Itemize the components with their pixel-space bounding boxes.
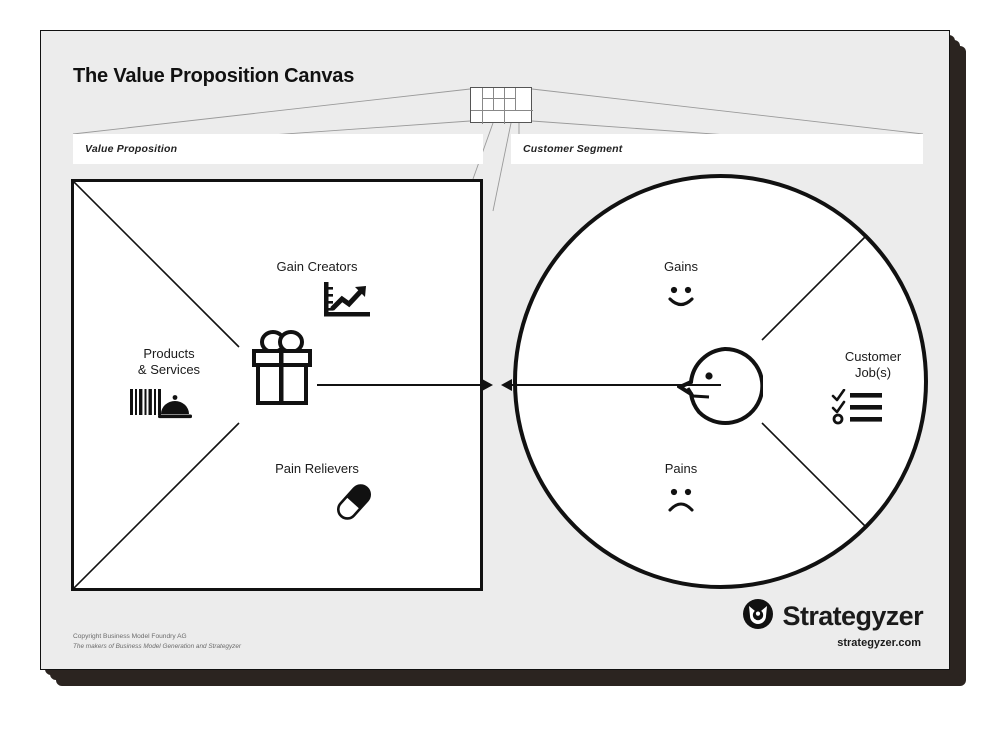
strategyzer-branding: Strategyzer strategyzer.com — [742, 598, 923, 649]
strategyzer-owl-logo-icon — [742, 598, 774, 635]
checklist-icon — [831, 389, 887, 432]
pill-capsule-icon — [331, 479, 377, 530]
pain-relievers-label-text: Pain Relievers — [275, 461, 359, 476]
customer-jobs-label: Customer Job(s) — [803, 349, 943, 382]
brand-url: strategyzer.com — [837, 637, 921, 649]
smiley-face-icon — [659, 283, 703, 318]
copyright-block: Copyright Business Model Foundry AG The … — [73, 632, 241, 651]
value-proposition-canvas-sheet: The Value Proposition Canvas Value Propo… — [40, 30, 950, 670]
gains-label-text: Gains — [664, 259, 698, 274]
pain-relievers-label: Pain Relievers — [237, 461, 397, 477]
customer-jobs-label-line2: Job(s) — [803, 365, 943, 381]
value-proposition-label: Value Proposition — [73, 143, 177, 155]
customer-segment-label: Customer Segment — [511, 143, 622, 155]
page-title: The Value Proposition Canvas — [73, 65, 354, 88]
pains-label: Pains — [621, 461, 741, 477]
gain-creators-label: Gain Creators — [237, 259, 397, 275]
gift-box-icon — [247, 329, 317, 410]
gains-label: Gains — [621, 259, 741, 275]
value-proposition-label-bar: Value Proposition — [73, 134, 483, 164]
copyright-line-2: The makers of Business Model Generation … — [73, 642, 241, 651]
growth-chart-icon — [319, 279, 375, 326]
customer-head-profile-icon — [677, 344, 763, 431]
products-services-label-line2: & Services — [99, 362, 239, 378]
products-services-label: Products & Services — [99, 346, 239, 379]
pains-label-text: Pains — [665, 461, 698, 476]
brand-name: Strategyzer — [783, 601, 923, 632]
gain-creators-label-text: Gain Creators — [277, 259, 358, 274]
barcode-service-dome-icon — [129, 387, 193, 424]
business-model-canvas-icon — [470, 87, 532, 123]
customer-segment-label-bar: Customer Segment — [511, 134, 923, 164]
customer-jobs-label-line1: Customer — [803, 349, 943, 365]
frowning-face-icon — [659, 486, 703, 521]
copyright-line-1: Copyright Business Model Foundry AG — [73, 632, 241, 642]
products-services-label-line1: Products — [99, 346, 239, 362]
